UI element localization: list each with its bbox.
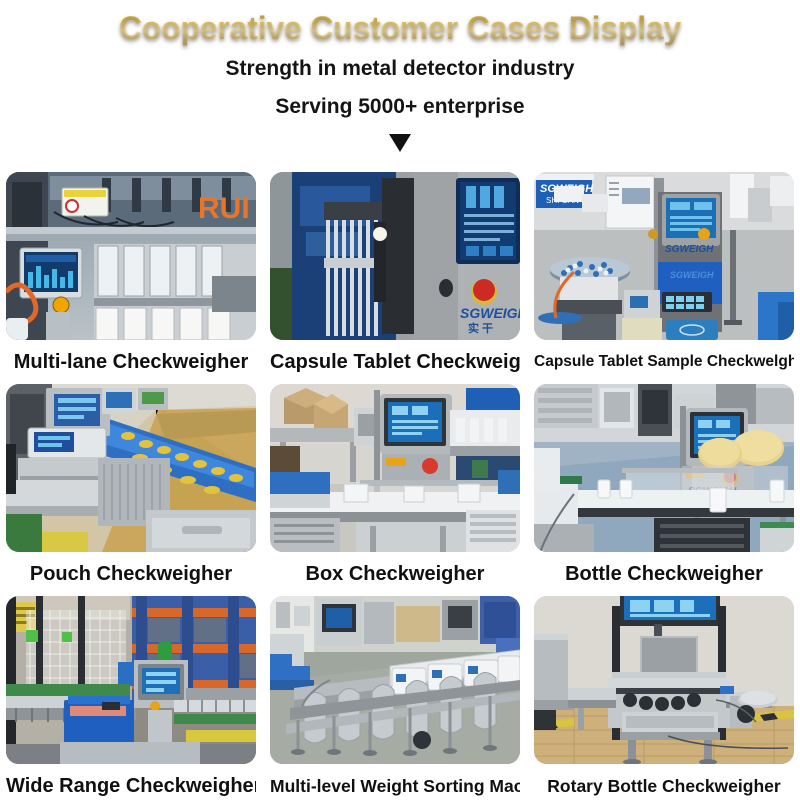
thumbnail-capsule-tablet-checkweigher[interactable]: SGWEIGH 实 干 bbox=[270, 172, 520, 340]
svg-text:实 干: 实 干 bbox=[468, 321, 493, 335]
gallery-item-capsule-tablet-sample-checkweigher[interactable]: SGWEIGH SHI GAN SGWEIGH bbox=[534, 172, 794, 384]
photo-capsule-tablet-checkweigher: SGWEIGH 实 干 bbox=[270, 172, 520, 340]
caption-multi-level-weight-sorting-machine: Multi-level Weight Sorting Machine bbox=[270, 764, 520, 800]
page-title: Cooperative Customer Cases Display bbox=[0, 6, 800, 50]
caption-wide-range-checkweigher: Wide Range Checkweigher bbox=[6, 764, 256, 800]
svg-text:SGWEIGH: SGWEIGH bbox=[670, 270, 714, 280]
svg-text:SGWEIGH: SGWEIGH bbox=[665, 244, 714, 255]
thumbnail-multi-level-weight-sorting-machine[interactable] bbox=[270, 596, 520, 764]
caption-capsule-tablet-checkweigher: Capsule Tablet Checkweigher bbox=[270, 340, 520, 384]
photo-rotary-bottle-checkweigher bbox=[534, 596, 794, 764]
svg-text:RUI: RUI bbox=[198, 192, 250, 225]
thumbnail-pouch-checkweigher[interactable] bbox=[6, 384, 256, 552]
photo-capsule-tablet-sample-checkweigher: SGWEIGH SHI GAN SGWEIGH bbox=[534, 172, 794, 340]
gallery-item-wide-range-checkweigher[interactable]: Wide Range Checkweigher bbox=[6, 596, 256, 800]
page-header: Cooperative Customer Cases Display Stren… bbox=[0, 0, 800, 158]
gallery-item-rotary-bottle-checkweigher[interactable]: Rotary Bottle Checkweigher bbox=[534, 596, 794, 800]
photo-wide-range-checkweigher bbox=[6, 596, 256, 764]
thumbnail-box-checkweigher[interactable] bbox=[270, 384, 520, 552]
case-gallery-grid: RUI bbox=[6, 172, 794, 800]
caption-multi-lane-checkweigher: Multi-lane Checkweigher bbox=[6, 340, 256, 384]
photo-pouch-checkweigher bbox=[6, 384, 256, 552]
subtitle-line-2: Serving 5000+ enterprise bbox=[0, 88, 800, 126]
photo-box-checkweigher bbox=[270, 384, 520, 552]
thumbnail-rotary-bottle-checkweigher[interactable] bbox=[534, 596, 794, 764]
triangle-down-icon bbox=[389, 134, 411, 152]
gallery-item-bottle-checkweigher[interactable]: SGWEIGH bbox=[534, 384, 794, 596]
caption-rotary-bottle-checkweigher: Rotary Bottle Checkweigher bbox=[534, 764, 794, 800]
gallery-item-capsule-tablet-checkweigher[interactable]: SGWEIGH 实 干 Capsule Tablet Checkweigher bbox=[270, 172, 520, 384]
thumbnail-bottle-checkweigher[interactable]: SGWEIGH bbox=[534, 384, 794, 552]
photo-bottle-checkweigher: SGWEIGH bbox=[534, 384, 794, 552]
subtitle-line-1: Strength in metal detector industry bbox=[0, 50, 800, 88]
photo-multi-level-weight-sorting-machine bbox=[270, 596, 520, 764]
caption-pouch-checkweigher: Pouch Checkweigher bbox=[6, 552, 256, 596]
thumbnail-wide-range-checkweigher[interactable] bbox=[6, 596, 256, 764]
thumbnail-multi-lane-checkweigher[interactable]: RUI bbox=[6, 172, 256, 340]
arrow-container bbox=[0, 128, 800, 158]
gallery-item-multi-level-weight-sorting-machine[interactable]: Multi-level Weight Sorting Machine bbox=[270, 596, 520, 800]
photo-multi-lane-checkweigher: RUI bbox=[6, 172, 256, 340]
page-root: Cooperative Customer Cases Display Stren… bbox=[0, 0, 800, 800]
svg-text:SGWEIGH: SGWEIGH bbox=[460, 305, 520, 321]
caption-bottle-checkweigher: Bottle Checkweigher bbox=[534, 552, 794, 596]
caption-box-checkweigher: Box Checkweigher bbox=[270, 552, 520, 596]
caption-capsule-tablet-sample-checkweigher: Capsule Tablet Sample Checkwelgher bbox=[534, 340, 794, 384]
gallery-item-box-checkweigher[interactable]: Box Checkweigher bbox=[270, 384, 520, 596]
gallery-item-multi-lane-checkweigher[interactable]: RUI bbox=[6, 172, 256, 384]
thumbnail-capsule-tablet-sample-checkweigher[interactable]: SGWEIGH SHI GAN SGWEIGH bbox=[534, 172, 794, 340]
gallery-item-pouch-checkweigher[interactable]: Pouch Checkweigher bbox=[6, 384, 256, 596]
